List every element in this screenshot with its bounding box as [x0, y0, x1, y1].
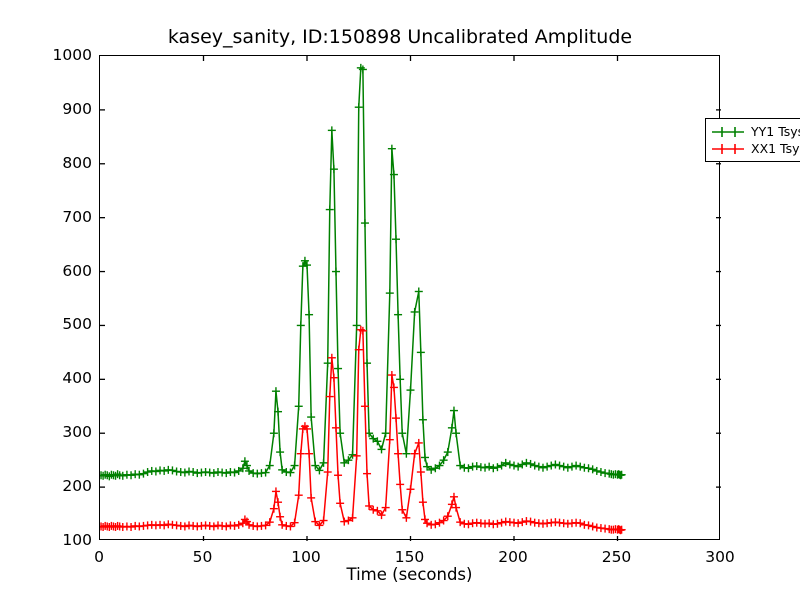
legend-swatch-yy1-icon	[711, 125, 745, 139]
y-tick-label: 700	[32, 208, 92, 226]
series-line	[101, 330, 622, 530]
series-markers	[100, 64, 626, 480]
legend-swatch-xx1-icon	[711, 142, 745, 156]
x-tick-label: 150	[380, 548, 440, 566]
series-canvas	[100, 56, 721, 541]
page-title: kasey_sanity, ID:150898 Uncalibrated Amp…	[0, 26, 800, 48]
x-tick-label: 300	[690, 548, 750, 566]
series-line	[101, 68, 622, 476]
x-tick-label: 50	[173, 548, 233, 566]
x-axis-label: Time (seconds)	[99, 565, 720, 584]
y-tick-label: 100	[32, 531, 92, 549]
y-tick-label: 800	[32, 154, 92, 172]
legend-label-yy1: YY1 Tsys0.00	[751, 124, 800, 139]
legend-box[interactable]: YY1 Tsys0.00 XX1 Tsys0.00	[705, 118, 800, 162]
data-series-yy1	[100, 64, 626, 480]
y-tick-label: 200	[32, 477, 92, 495]
y-tick-label: 900	[32, 100, 92, 118]
figure-canvas: kasey_sanity, ID:150898 Uncalibrated Amp…	[0, 0, 800, 600]
series-markers	[100, 326, 626, 534]
y-tick-label: 1000	[32, 46, 92, 64]
x-tick-label: 100	[276, 548, 336, 566]
y-tick-label: 600	[32, 262, 92, 280]
data-series-xx1	[100, 326, 626, 534]
legend-label-xx1: XX1 Tsys0.00	[751, 141, 800, 156]
x-tick-label: 250	[587, 548, 647, 566]
x-tick-label: 200	[483, 548, 543, 566]
legend-entry-xx1[interactable]: XX1 Tsys0.00	[711, 140, 800, 157]
y-tick-label: 500	[32, 315, 92, 333]
plot-area: YY1 Tsys0.00 XX1 Tsys0.00	[99, 55, 720, 540]
y-tick-label-group: 1002003004005006007008009001000	[27, 55, 92, 540]
y-tick-label: 300	[32, 423, 92, 441]
x-tick-label: 0	[69, 548, 129, 566]
y-tick-label: 400	[32, 369, 92, 387]
legend-entry-yy1[interactable]: YY1 Tsys0.00	[711, 123, 800, 140]
